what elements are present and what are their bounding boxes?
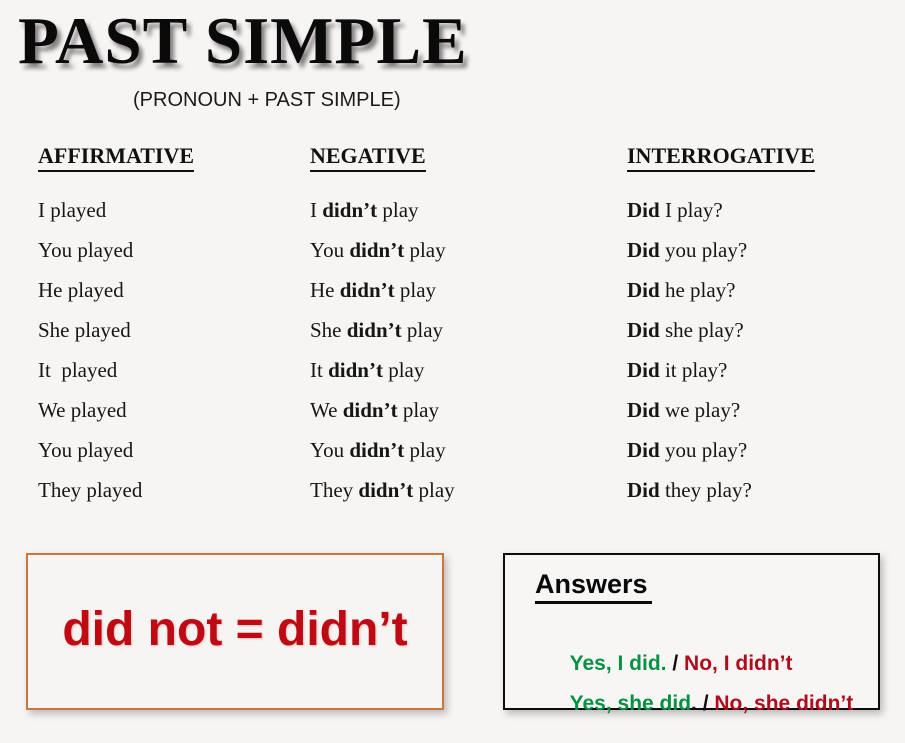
answer-affirmative: Yes, she did xyxy=(570,692,691,715)
row-bold: Did xyxy=(627,438,660,462)
page-title: PAST SIMPLE xyxy=(18,2,468,80)
table-row: I played xyxy=(38,190,194,230)
row-bold: didn’t xyxy=(322,198,377,222)
column-affirmative: AFFIRMATIVE I played You played He playe… xyxy=(38,143,194,510)
row-bold: didn’t xyxy=(349,438,404,462)
row-suffix: play xyxy=(402,318,443,342)
row-bold: didn’t xyxy=(343,398,398,422)
column-interrogative: INTERROGATIVE Did I play? Did you play? … xyxy=(627,143,815,510)
row-suffix: you play? xyxy=(660,238,747,262)
table-row: He played xyxy=(38,270,194,310)
row-prefix: She xyxy=(310,318,347,342)
table-row: It played xyxy=(38,350,194,390)
table-row: It didn’t play xyxy=(310,350,455,390)
row-prefix: She played xyxy=(38,318,131,342)
table-row: She played xyxy=(38,310,194,350)
table-row: Did I play? xyxy=(627,190,815,230)
row-bold: didn’t xyxy=(347,318,402,342)
row-suffix: play xyxy=(413,478,454,502)
row-prefix: He xyxy=(310,278,340,302)
table-row: Did he play? xyxy=(627,270,815,310)
row-suffix: play xyxy=(395,278,436,302)
table-row: Did we play? xyxy=(627,390,815,430)
row-bold: Did xyxy=(627,278,660,302)
row-prefix: You xyxy=(310,438,349,462)
row-bold: didn’t xyxy=(328,358,383,382)
contraction-text: did not = didn’t xyxy=(28,602,442,658)
answer-line: Yes, she did. / No, she didn’t xyxy=(535,665,853,743)
row-suffix: play xyxy=(398,398,439,422)
column-negative: NEGATIVE I didn’t play You didn’t play H… xyxy=(310,143,455,510)
row-prefix: I played xyxy=(38,198,106,222)
row-suffix: I play? xyxy=(660,198,723,222)
row-suffix: play xyxy=(377,198,418,222)
row-bold: didn’t xyxy=(349,238,404,262)
row-suffix: play xyxy=(404,438,445,462)
row-prefix: You played xyxy=(38,438,133,462)
table-row: Did you play? xyxy=(627,230,815,270)
worksheet-page: PAST SIMPLE (PRONOUN + PAST SIMPLE) AFFI… xyxy=(0,0,905,731)
row-prefix: They xyxy=(310,478,358,502)
row-bold: Did xyxy=(627,198,660,222)
table-row: You didn’t play xyxy=(310,430,455,470)
row-bold: Did xyxy=(627,238,660,262)
table-row: We didn’t play xyxy=(310,390,455,430)
table-row: Did it play? xyxy=(627,350,815,390)
row-suffix: he play? xyxy=(660,278,736,302)
row-prefix: I xyxy=(310,198,322,222)
row-prefix: They played xyxy=(38,478,142,502)
column-header-negative: NEGATIVE xyxy=(310,143,426,172)
answer-separator: / xyxy=(697,692,715,715)
table-row: You didn’t play xyxy=(310,230,455,270)
row-bold: didn’t xyxy=(340,278,395,302)
row-bold: Did xyxy=(627,398,660,422)
row-suffix: play xyxy=(404,238,445,262)
contraction-box: did not = didn’t xyxy=(26,553,444,710)
table-row: You played xyxy=(38,430,194,470)
row-suffix: you play? xyxy=(660,438,747,462)
row-bold: Did xyxy=(627,318,660,342)
table-row: He didn’t play xyxy=(310,270,455,310)
row-suffix: they play? xyxy=(660,478,752,502)
row-prefix: You xyxy=(310,238,349,262)
row-bold: didn’t xyxy=(358,478,413,502)
column-header-interrogative: INTERROGATIVE xyxy=(627,143,815,172)
column-rows-negative: I didn’t play You didn’t play He didn’t … xyxy=(310,190,455,510)
row-bold: Did xyxy=(627,478,660,502)
table-row: Did you play? xyxy=(627,430,815,470)
table-row: I didn’t play xyxy=(310,190,455,230)
column-header-affirmative: AFFIRMATIVE xyxy=(38,143,194,172)
table-row: Did she play? xyxy=(627,310,815,350)
answers-title: Answers xyxy=(535,568,652,604)
table-row: They didn’t play xyxy=(310,470,455,510)
row-suffix: play xyxy=(383,358,424,382)
answer-negative: No, she didn’t xyxy=(714,692,853,715)
table-row: Did they play? xyxy=(627,470,815,510)
row-bold: Did xyxy=(627,358,660,382)
row-suffix: she play? xyxy=(660,318,744,342)
row-prefix: We played xyxy=(38,398,127,422)
column-rows-affirmative: I played You played He played She played… xyxy=(38,190,194,510)
row-prefix: He played xyxy=(38,278,124,302)
page-subtitle: (PRONOUN + PAST SIMPLE) xyxy=(133,87,401,113)
table-row: We played xyxy=(38,390,194,430)
answers-box: Answers Yes, I did. / No, I didn’t Yes, … xyxy=(503,553,880,710)
row-prefix: You played xyxy=(38,238,133,262)
table-row: She didn’t play xyxy=(310,310,455,350)
row-prefix: It played xyxy=(38,358,117,382)
row-suffix: it play? xyxy=(660,358,728,382)
table-row: You played xyxy=(38,230,194,270)
row-suffix: we play? xyxy=(660,398,740,422)
row-prefix: It xyxy=(310,358,328,382)
row-prefix: We xyxy=(310,398,343,422)
table-row: They played xyxy=(38,470,194,510)
column-rows-interrogative: Did I play? Did you play? Did he play? D… xyxy=(627,190,815,510)
